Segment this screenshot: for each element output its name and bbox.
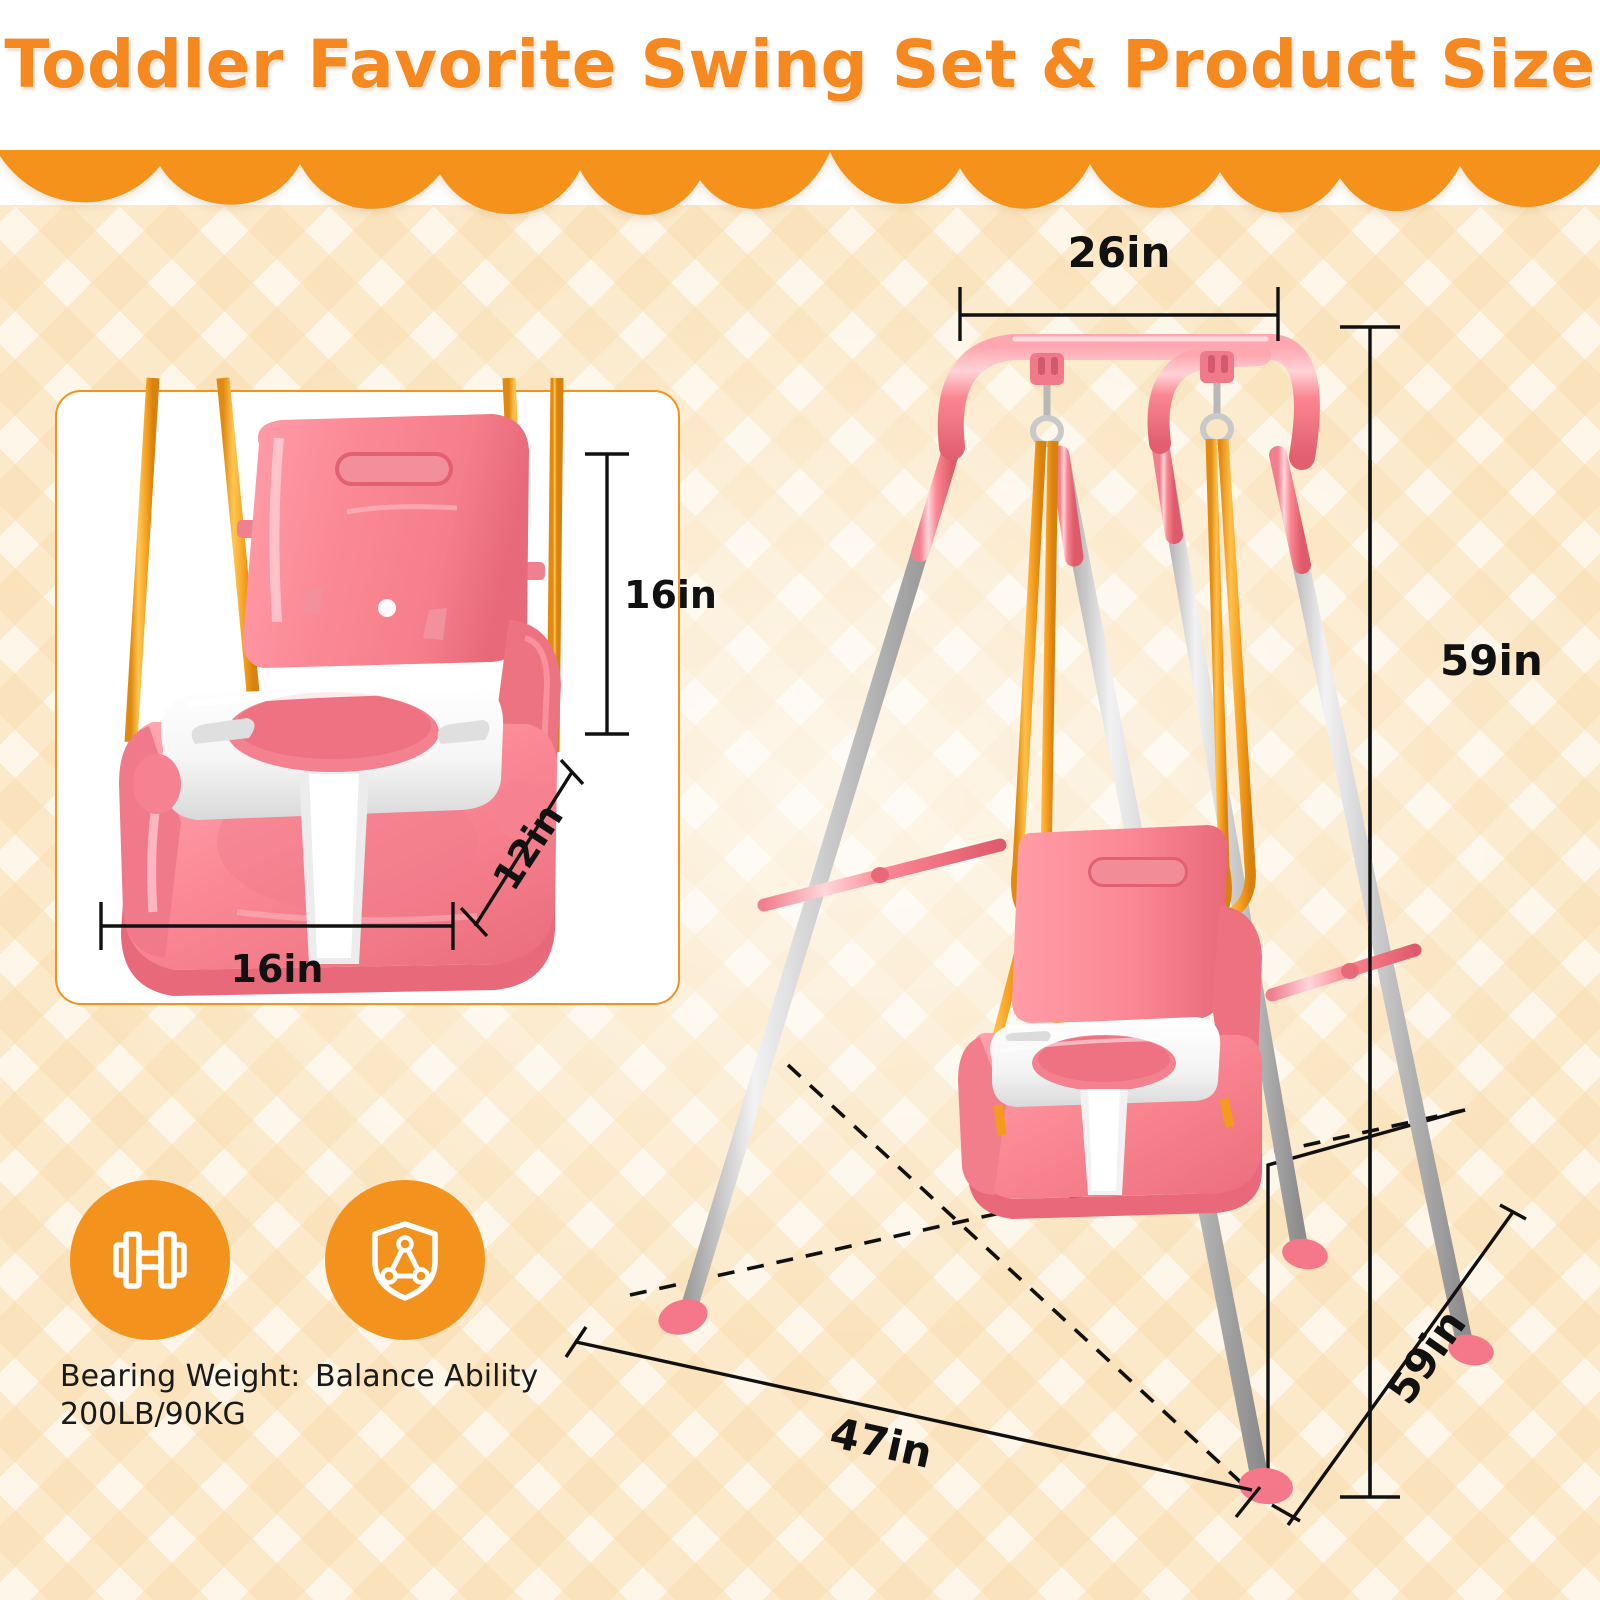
- right-hanger-hardware: [1200, 351, 1234, 442]
- dimension-label-59in-height: 59in: [1440, 636, 1543, 685]
- left-hanger-hardware: [1030, 353, 1064, 444]
- bearing-weight-line1: Bearing Weight:: [60, 1359, 300, 1394]
- dimension-label-16in-height: 16in: [624, 573, 717, 617]
- header-band: Toddler Favorite Swing Set & Product Siz…: [0, 0, 1600, 150]
- dimension-label-26in: 26in: [1068, 228, 1171, 277]
- balance-ability-line1: Balance Ability: [315, 1359, 538, 1394]
- page-title: Toddler Favorite Swing Set & Product Siz…: [0, 26, 1600, 103]
- left-cross-brace: [764, 845, 1000, 905]
- feature-balance-ability: Balance Ability: [315, 1180, 500, 1480]
- seat-closeup-panel: 16in 12in 16in: [55, 390, 680, 1005]
- balance-ability-label: Balance Ability: [315, 1358, 575, 1396]
- bearing-weight-icon-circle: [70, 1180, 230, 1340]
- bearing-weight-line2: 200LB/90KG: [60, 1397, 246, 1432]
- swing-top-bar: [951, 339, 1307, 457]
- swing-set-illustration: 26in 59in 47in 59in: [560, 205, 1600, 1600]
- dimension-26in: 26in: [960, 228, 1278, 341]
- dimension-47in: 47in: [566, 1327, 1260, 1517]
- dimension-label-16in-width: 16in: [231, 947, 324, 991]
- bearing-weight-label: Bearing Weight: 200LB/90KG: [60, 1358, 320, 1435]
- feature-bearing-weight: Bearing Weight: 200LB/90KG: [60, 1180, 245, 1480]
- infographic-page: 26in 59in 47in 59in: [0, 0, 1600, 1600]
- rear-left-leg: [688, 447, 952, 1311]
- shield-balance-icon: [357, 1212, 453, 1308]
- feature-badges: Bearing Weight: 200LB/90KG Balance Abili…: [60, 1180, 580, 1480]
- seat-closeup-illustration: 16in 12in 16in: [57, 392, 682, 1007]
- seat-back: [243, 414, 529, 668]
- balance-ability-icon-circle: [325, 1180, 485, 1340]
- dumbbell-icon: [102, 1212, 198, 1308]
